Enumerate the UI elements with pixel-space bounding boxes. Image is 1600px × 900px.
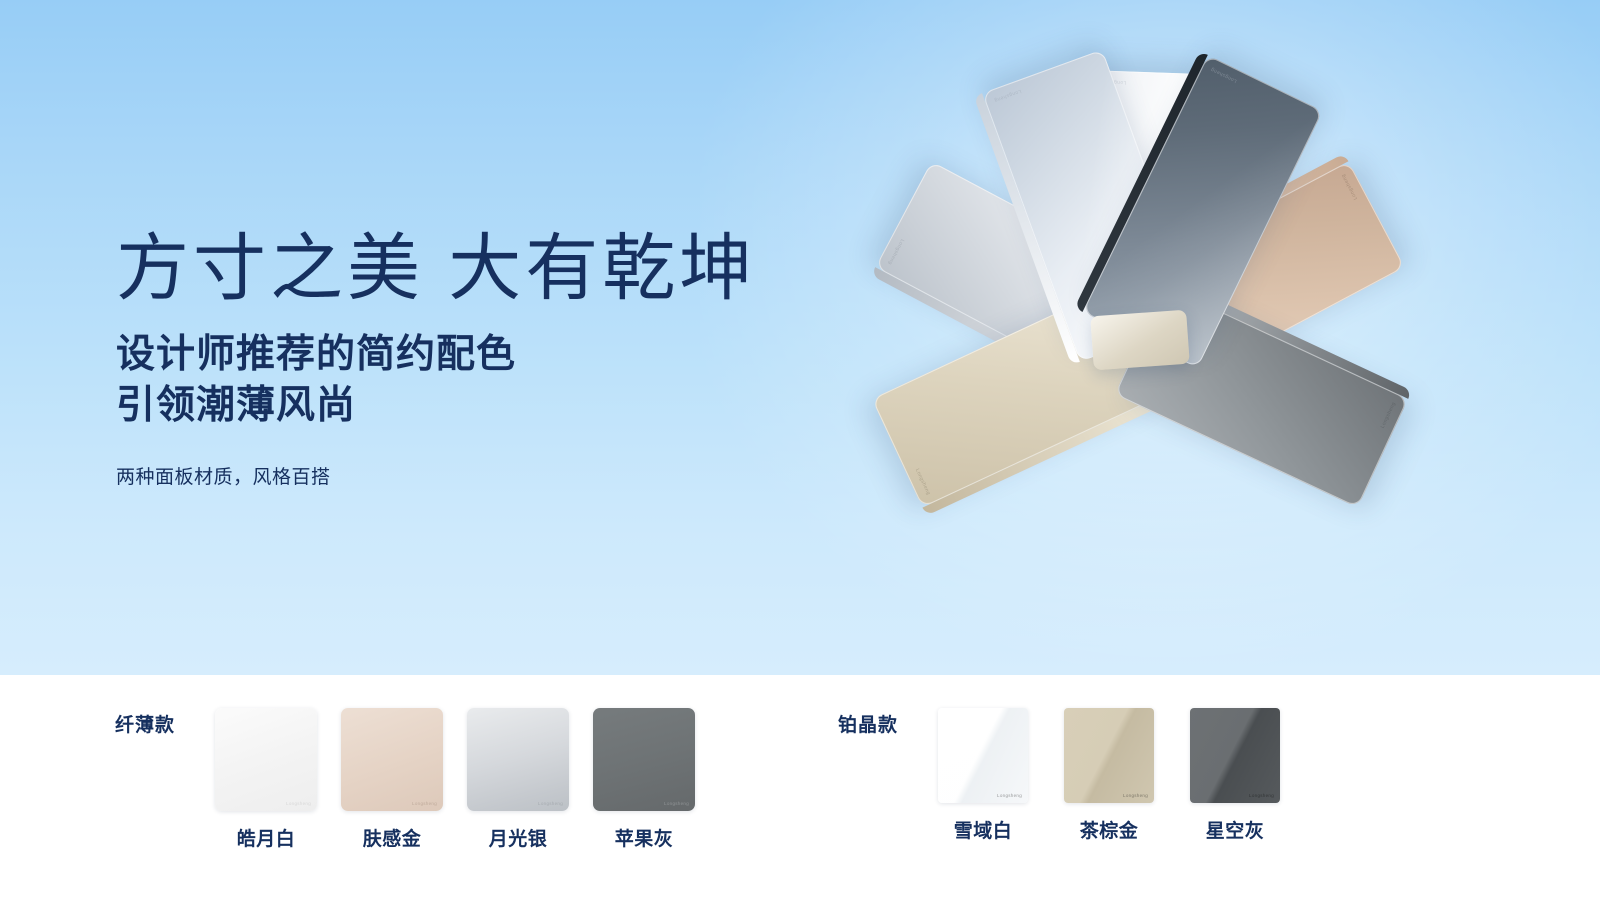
color-chip[interactable]: Longsheng xyxy=(938,708,1028,803)
swatch-group-thin: 纤薄款 Longsheng 皓月白 Longsheng 肤感金 Lo xyxy=(115,708,707,851)
brand-mark: Longsheng xyxy=(1123,793,1148,798)
color-chip[interactable]: Longsheng xyxy=(1064,708,1154,803)
fan-center-hub xyxy=(1090,310,1190,371)
brand-mark: Longsheng xyxy=(1249,793,1274,798)
hero-caption: 两种面板材质，风格百搭 xyxy=(116,462,756,489)
color-chip[interactable]: Longsheng xyxy=(215,708,317,811)
swatch-item-xingkonghui[interactable]: Longsheng 星空灰 xyxy=(1172,708,1298,843)
hero-subheading-line-2: 引领潮薄风尚 xyxy=(116,380,756,431)
swatch-row: Longsheng 皓月白 Longsheng 肤感金 Longsheng 月光… xyxy=(203,708,707,851)
hero-subheading: 设计师推荐的简约配色 引领潮薄风尚 xyxy=(116,329,756,432)
brand-mark: Longsheng xyxy=(664,801,689,806)
swatch-label: 肤感金 xyxy=(363,824,422,851)
swatch-item-xueyubai[interactable]: Longsheng 雪域白 xyxy=(920,708,1046,843)
color-chip[interactable]: Longsheng xyxy=(467,708,569,811)
swatch-label: 星空灰 xyxy=(1206,816,1265,843)
swatch-item-pingguohui[interactable]: Longsheng 苹果灰 xyxy=(581,708,707,851)
swatch-item-fugganjin[interactable]: Longsheng 肤感金 xyxy=(329,708,455,851)
brand-mark: Longsheng xyxy=(286,801,311,806)
hero-subheading-line-1: 设计师推荐的简约配色 xyxy=(116,329,756,380)
color-chip[interactable]: Longsheng xyxy=(1190,708,1280,803)
color-chip[interactable]: Longsheng xyxy=(341,708,443,811)
swatch-item-chazongjin[interactable]: Longsheng 茶棕金 xyxy=(1046,708,1172,843)
swatch-label: 苹果灰 xyxy=(615,824,674,851)
swatch-item-yueguangyin[interactable]: Longsheng 月光银 xyxy=(455,708,581,851)
swatch-group-label: 铂晶款 xyxy=(838,710,898,737)
color-chip[interactable]: Longsheng xyxy=(593,708,695,811)
swatch-group-label: 纤薄款 xyxy=(115,710,175,737)
swatch-label: 雪域白 xyxy=(954,816,1013,843)
swatch-label: 月光银 xyxy=(489,824,548,851)
product-fan-image: Longsheng Longsheng Longsheng xyxy=(790,10,1490,670)
hero-section: 方寸之美 大有乾坤 设计师推荐的简约配色 引领潮薄风尚 两种面板材质，风格百搭 … xyxy=(0,0,1600,675)
hero-copy-block: 方寸之美 大有乾坤 设计师推荐的简约配色 引领潮薄风尚 两种面板材质，风格百搭 xyxy=(116,232,756,489)
brand-mark: Longsheng xyxy=(538,801,563,806)
brand-mark: Longsheng xyxy=(412,801,437,806)
swatch-row: Longsheng 雪域白 Longsheng 茶棕金 Longsheng 星空… xyxy=(920,708,1298,843)
swatch-group-crystal: 铂晶款 Longsheng 雪域白 Longsheng 茶棕金 Lo xyxy=(838,708,1298,843)
color-swatch-section: 纤薄款 Longsheng 皓月白 Longsheng 肤感金 Lo xyxy=(0,675,1600,900)
product-color-showcase-page: 方寸之美 大有乾坤 设计师推荐的简约配色 引领潮薄风尚 两种面板材质，风格百搭 … xyxy=(0,0,1600,900)
page-title: 方寸之美 大有乾坤 xyxy=(116,232,756,305)
swatch-item-haoyuebai[interactable]: Longsheng 皓月白 xyxy=(203,708,329,851)
brand-mark: Longsheng xyxy=(997,793,1022,798)
swatch-label: 皓月白 xyxy=(237,824,296,851)
swatch-label: 茶棕金 xyxy=(1080,816,1139,843)
